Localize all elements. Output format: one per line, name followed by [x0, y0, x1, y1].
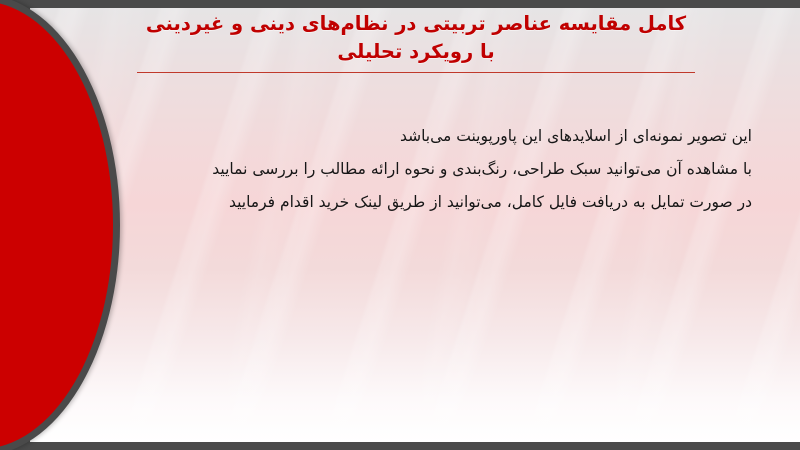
title-line-1: کامل مقایسه عناصر تربیتی در نظام‌های دین… — [66, 10, 766, 38]
body-line-1: این تصویر نمونه‌ای از اسلایدهای این پاور… — [62, 120, 752, 153]
panel-texture-streaks — [30, 8, 800, 442]
title-line-2: با رویکرد تحلیلی — [66, 38, 766, 66]
title-divider-rule — [137, 72, 695, 73]
presentation-slide: کامل مقایسه عناصر تربیتی در نظام‌های دین… — [0, 0, 800, 450]
slide-body-text: این تصویر نمونه‌ای از اسلایدهای این پاور… — [62, 120, 752, 219]
slide-title: کامل مقایسه عناصر تربیتی در نظام‌های دین… — [66, 10, 766, 73]
panel-texture-streaks-secondary — [30, 8, 800, 442]
body-line-3: در صورت تمایل به دریافت فایل کامل، می‌تو… — [62, 186, 752, 219]
body-line-2: با مشاهده آن می‌توانید سبک طراحی، رنگ‌بن… — [62, 153, 752, 186]
slide-content-panel — [30, 8, 800, 442]
